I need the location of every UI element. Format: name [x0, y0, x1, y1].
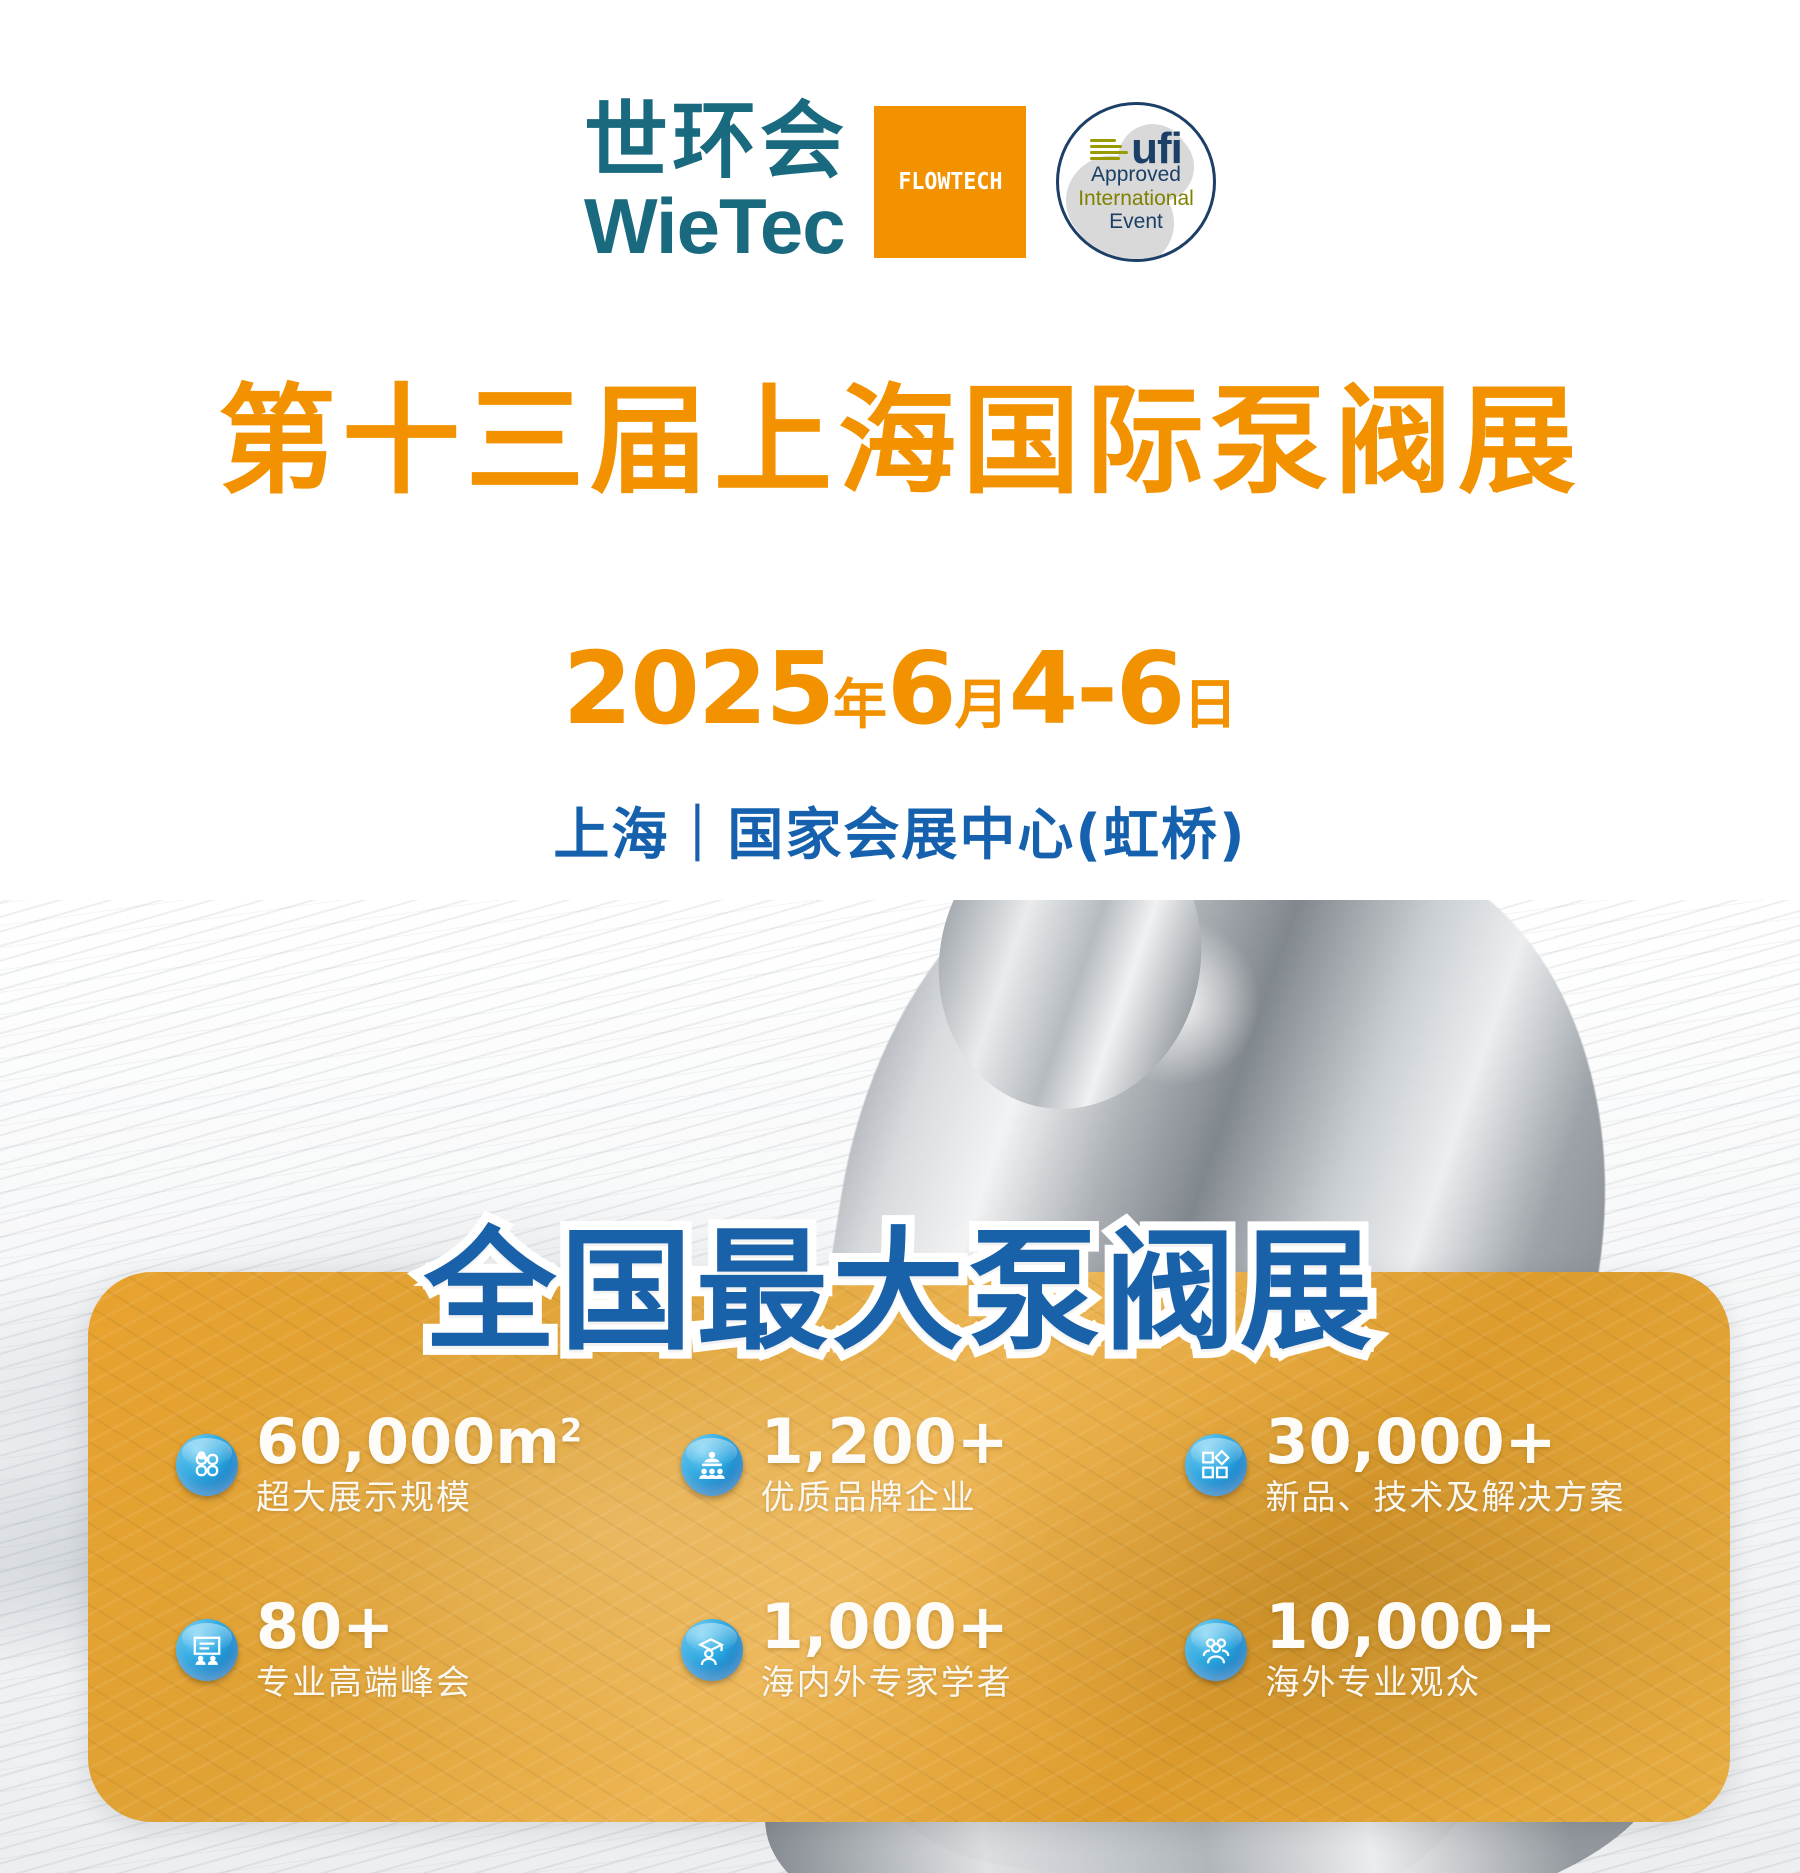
stat-value: 30,000+: [1265, 1410, 1625, 1473]
date-day-unit: 日: [1183, 673, 1237, 736]
logo-row: 世环会 WieTec FLOWTECH ufi Approved Interna…: [0, 98, 1800, 265]
stat-label: 海内外专家学者: [761, 1662, 1013, 1705]
flowtech-logo: FLOWTECH: [874, 106, 1026, 258]
header-band: 世环会 WieTec FLOWTECH ufi Approved Interna…: [0, 0, 1800, 900]
wietec-chinese-name: 世环会: [584, 98, 848, 185]
ufi-line-international: International: [1078, 187, 1194, 211]
poster-root: 世环会 WieTec FLOWTECH ufi Approved Interna…: [0, 0, 1800, 1873]
stat-label: 专业高端峰会: [256, 1662, 472, 1705]
stat-text: 1,000+ 海内外专家学者: [761, 1595, 1013, 1705]
clover-grid-icon: [176, 1434, 238, 1496]
stat-text: 10,000+ 海外专业观众: [1265, 1595, 1556, 1705]
page-title: 第十三届上海国际泵阀展: [0, 345, 1800, 516]
ufi-line-event: Event: [1109, 210, 1163, 234]
stat-label: 优质品牌企业: [761, 1477, 1009, 1520]
date-year: 2025: [563, 630, 833, 747]
stat-value: 10,000+: [1265, 1595, 1556, 1658]
stat-value: 80+: [256, 1595, 472, 1658]
stat-label: 超大展示规模: [256, 1477, 582, 1520]
date-days: 4-6: [1009, 630, 1184, 747]
scholar-graduate-icon: [681, 1619, 743, 1681]
stat-label: 海外专业观众: [1265, 1662, 1556, 1705]
stat-label: 新品、技术及解决方案: [1265, 1477, 1625, 1520]
stat-item: 80+ 专业高端峰会: [176, 1595, 671, 1780]
stat-value: 60,000m2: [256, 1410, 582, 1473]
ufi-speedlines-icon: [1090, 139, 1128, 160]
ufi-approved-badge: ufi Approved International Event: [1056, 102, 1216, 262]
wietec-english-name: WieTec: [584, 187, 845, 265]
stat-item: 30,000+ 新品、技术及解决方案: [1185, 1410, 1680, 1595]
ufi-wordmark: ufi: [1090, 130, 1182, 167]
stat-value: 1,200+: [761, 1410, 1009, 1473]
stat-item: 1,200+ 优质品牌企业: [681, 1410, 1176, 1595]
ufi-word: ufi: [1131, 130, 1182, 167]
audience-group-icon: [1185, 1619, 1247, 1681]
stat-value: 1,000+: [761, 1595, 1013, 1658]
speaker-audience-icon: [681, 1434, 743, 1496]
stat-item: 60,000m2 超大展示规模: [176, 1410, 671, 1595]
product-tiles-icon: [1185, 1434, 1247, 1496]
stat-item: 1,000+ 海内外专家学者: [681, 1595, 1176, 1780]
ufi-line-approved: Approved: [1091, 163, 1181, 187]
date-year-unit: 年: [833, 673, 887, 736]
certificate-people-icon: [176, 1619, 238, 1681]
event-venue: 上海｜国家会展中心(虹桥): [0, 790, 1800, 871]
stat-item: 10,000+ 海外专业观众: [1185, 1595, 1680, 1780]
stat-text: 1,200+ 优质品牌企业: [761, 1410, 1009, 1520]
stat-text: 80+ 专业高端峰会: [256, 1595, 472, 1705]
flowtech-label: FLOWTECH: [898, 169, 1002, 195]
stats-grid: 60,000m2 超大展示规模 1,200+ 优质品牌企业: [88, 1272, 1730, 1822]
event-date: 2025年6月4-6日: [0, 630, 1800, 747]
stat-text: 30,000+ 新品、技术及解决方案: [1265, 1410, 1625, 1520]
date-month-unit: 月: [955, 673, 1009, 736]
date-month: 6: [887, 630, 955, 747]
stat-text: 60,000m2 超大展示规模: [256, 1410, 582, 1520]
wietec-logo: 世环会 WieTec: [584, 98, 848, 265]
